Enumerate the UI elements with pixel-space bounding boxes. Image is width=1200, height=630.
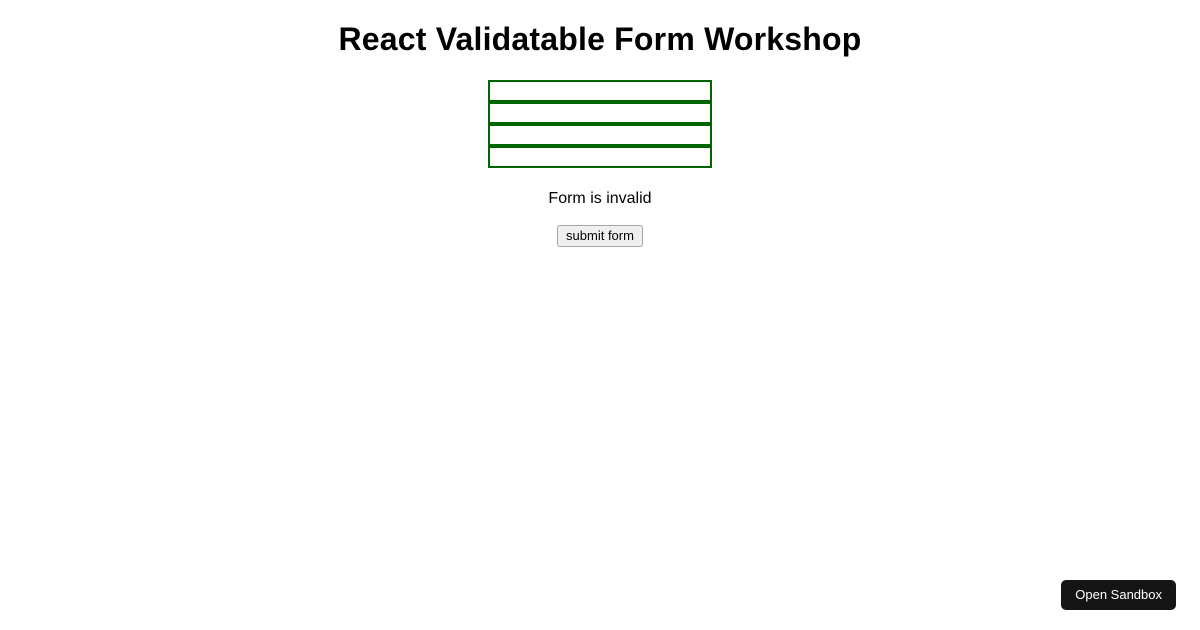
field-row — [488, 124, 712, 146]
submit-form-button[interactable]: submit form — [557, 225, 643, 247]
submit-row: submit form — [557, 208, 643, 247]
field-row — [488, 102, 712, 124]
page-title: React Validatable Form Workshop — [0, 0, 1200, 58]
app-root: React Validatable Form Workshop Form is … — [0, 0, 1200, 247]
field-row — [488, 146, 712, 168]
text-input-4[interactable] — [488, 146, 712, 168]
form-wrapper: Form is invalid submit form — [0, 80, 1200, 247]
open-sandbox-button[interactable]: Open Sandbox — [1061, 580, 1176, 610]
form-status-message: Form is invalid — [548, 168, 651, 208]
text-input-1[interactable] — [488, 80, 712, 102]
validatable-form — [488, 80, 712, 168]
text-input-2[interactable] — [488, 102, 712, 124]
field-row — [488, 80, 712, 102]
text-input-3[interactable] — [488, 124, 712, 146]
